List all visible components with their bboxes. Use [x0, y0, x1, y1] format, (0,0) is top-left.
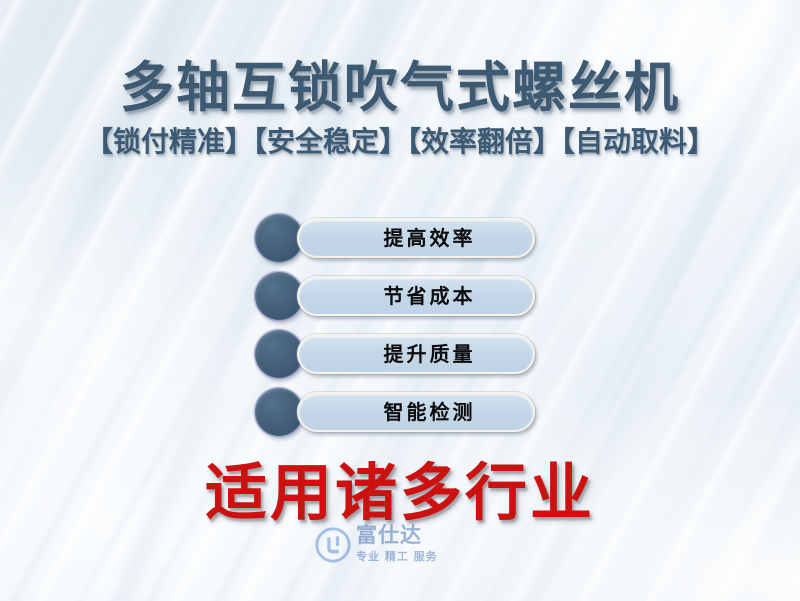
promo-poster: 多轴互锁吹气式螺丝机 【锁付精准】【安全稳定】【效率翻倍】【自动取料】 提高效率…: [0, 0, 800, 601]
sub-title: 【锁付精准】【安全稳定】【效率翻倍】【自动取料】: [0, 116, 800, 158]
feature-item: 提升质量: [0, 328, 800, 386]
feature-label: 提升质量: [357, 344, 476, 364]
feature-pill: 智能检测: [297, 392, 535, 432]
bottom-headline-block: 适用诸多行业: [0, 459, 800, 527]
feature-label: 节省成本: [357, 286, 476, 306]
feature-item: 节省成本: [0, 270, 800, 328]
main-title: 多轴互锁吹气式螺丝机: [0, 0, 800, 116]
bullet-circle-icon: [255, 272, 303, 320]
feature-pill: 节省成本: [297, 276, 535, 316]
feature-list: 提高效率 节省成本 提升质量 智能检测: [0, 212, 800, 444]
bullet-circle-icon: [255, 214, 303, 262]
header-block: 多轴互锁吹气式螺丝机 【锁付精准】【安全稳定】【效率翻倍】【自动取料】: [0, 0, 800, 158]
bullet-circle-icon: [255, 388, 303, 436]
feature-label: 提高效率: [357, 228, 476, 248]
feature-pill: 提升质量: [297, 334, 535, 374]
feature-label: 智能检测: [357, 402, 476, 422]
feature-item: 智能检测: [0, 386, 800, 444]
bottom-headline: 适用诸多行业: [0, 459, 800, 527]
feature-item: 提高效率: [0, 212, 800, 270]
bullet-circle-icon: [255, 330, 303, 378]
feature-pill: 提高效率: [297, 218, 535, 258]
